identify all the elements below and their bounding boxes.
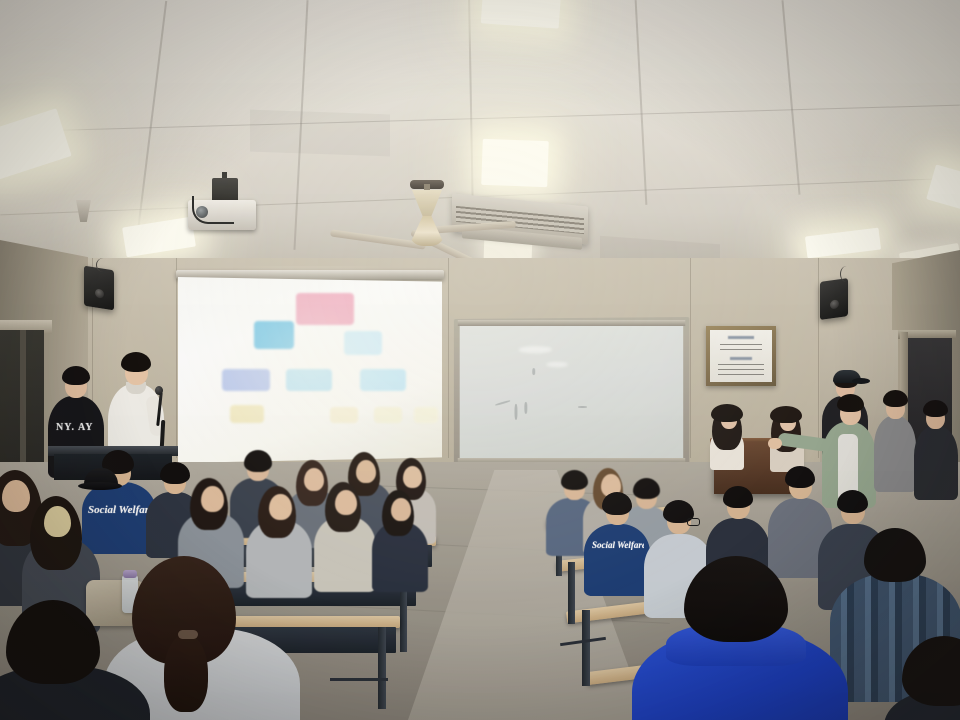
slide-box-yellow-4: [414, 407, 438, 423]
slide-box-cyan-1: [344, 331, 382, 355]
speaker-cone-icon: [830, 299, 839, 309]
baseball-cap-brim-icon: [852, 378, 870, 384]
water-bottle-cap: [123, 570, 137, 578]
slide-box-yellow-3: [374, 407, 402, 423]
desk-leg: [400, 582, 407, 652]
slide-box-yellow-1: [230, 405, 264, 423]
desk-rail: [330, 678, 388, 681]
slide-box-cyan-3: [360, 369, 406, 391]
desk-leg: [378, 627, 386, 709]
left-window-frame: [20, 330, 26, 480]
whiteboard: [460, 323, 683, 461]
slide-box-cyan-2: [286, 369, 332, 391]
speaker-cone-icon: [95, 288, 104, 298]
ceiling-light-panel: [481, 139, 549, 187]
slide-box-periwinkle: [222, 369, 270, 391]
wall-speaker: [820, 278, 848, 320]
microphone-icon: [155, 386, 163, 395]
desk-leg: [582, 610, 590, 686]
baseball-cap-brim: [78, 482, 122, 490]
slide-box-blue: [254, 321, 294, 349]
jacket-text-social-welfare: Social Welfare: [88, 504, 154, 516]
whiteboard-top-rail: [458, 320, 685, 326]
speaker-wire: [840, 266, 853, 282]
ponytail: [164, 634, 208, 712]
projector-lens-icon: [196, 206, 208, 218]
hoodie-graphic-text: NY. AY: [56, 422, 94, 433]
lecture-hall-photo: NY. AY Social Welfare: [0, 0, 960, 720]
hand-icon: [768, 438, 782, 449]
jacket-text-social-welfare: Social Welfare: [592, 540, 644, 550]
hair-tie: [178, 630, 198, 639]
desk-leg: [568, 562, 575, 624]
slide-box-pink: [296, 293, 354, 325]
wall-notice: [710, 330, 772, 382]
projection-screen: [178, 277, 442, 463]
projection-screen-housing: [176, 270, 444, 279]
eyeglasses-icon: [687, 518, 700, 526]
speaker-wire: [96, 258, 111, 272]
slide-box-yellow-2: [330, 407, 358, 423]
wall-speaker: [84, 266, 114, 311]
